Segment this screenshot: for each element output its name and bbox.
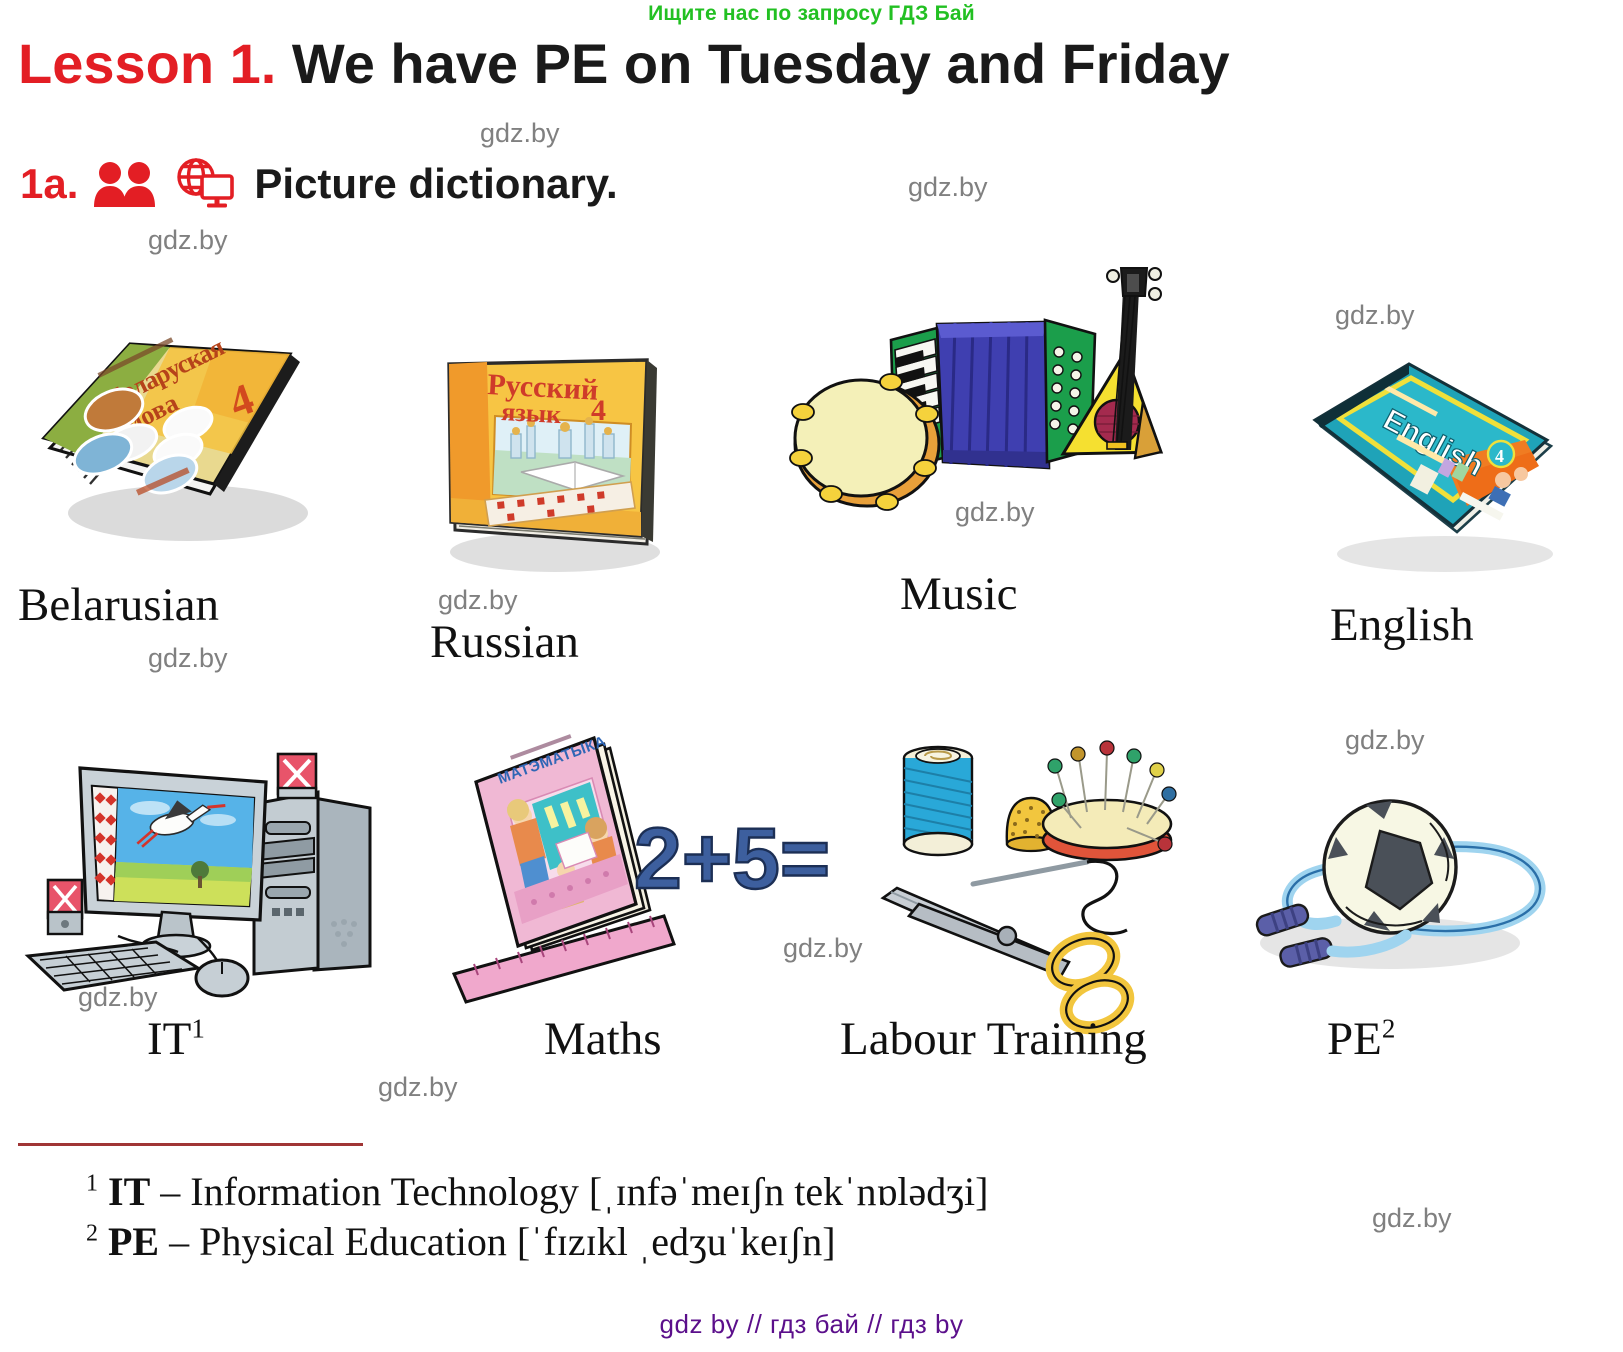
russian-textbook-art: Русский язык 4 — [425, 330, 695, 580]
subject-label-russian: Russian — [430, 615, 579, 669]
subject-label-belarusian: Belarusian — [18, 578, 219, 632]
english-textbook-art: English 4 — [1295, 348, 1575, 578]
subject-label-labour: Labour Training — [840, 1012, 1147, 1066]
belarusian-textbook-art: Беларуская мова . 4 — [18, 258, 318, 558]
subject-card-pe: PE2 — [1240, 775, 1570, 975]
svg-text:4: 4 — [1495, 446, 1504, 466]
site-footer: gdz by // гдз бай // гдз by — [0, 1309, 1623, 1340]
subject-card-belarusian: Беларуская мова . 4 — [18, 258, 318, 558]
footnote-fullform-pe: Physical Education — [199, 1219, 517, 1264]
footnote-abbr-it: IT — [108, 1169, 150, 1214]
footnote-fullform-it: Information Technology — [190, 1169, 589, 1214]
subject-card-labour: Labour Training — [875, 712, 1175, 987]
subject-card-it: IT1 — [22, 712, 382, 1002]
footnote-marker-1: 1 — [86, 1171, 98, 1197]
watermark-2: gdz.by — [148, 225, 228, 256]
lesson-number-label: Lesson 1. — [18, 32, 276, 95]
watermark-6: gdz.by — [148, 643, 228, 674]
musical-instruments-art — [795, 262, 1165, 522]
subject-card-music: Music — [795, 262, 1165, 522]
task-number-label: 1a. — [20, 163, 78, 205]
footnote-divider — [18, 1143, 363, 1146]
watermark-3: gdz.by — [1335, 300, 1415, 331]
subject-card-english: English 4 — [1295, 348, 1575, 578]
watermark-0: gdz.by — [480, 118, 560, 149]
watermark-1: gdz.by — [908, 172, 988, 203]
footnote-it: 1 IT – Information Technology [ˌɪnfəˈmeɪ… — [86, 1168, 988, 1215]
footnote-abbr-pe: PE — [108, 1219, 159, 1264]
task-text-label: Picture dictionary. — [254, 163, 617, 205]
footnote-dash-2: – — [159, 1219, 199, 1264]
footnote-ipa-it: [ˌɪnfəˈmeɪʃn tekˈnɒlədʒi] — [589, 1169, 989, 1214]
maths-book-and-ruler-art: МАТЭМАТЫКА — [448, 712, 828, 987]
subject-label-it: IT1 — [147, 1012, 205, 1066]
subject-label-english: English — [1330, 598, 1474, 652]
pair-of-people-icon — [92, 161, 158, 207]
subject-label-maths: Maths — [544, 1012, 662, 1066]
page-title: Lesson 1. We have PE on Tuesday and Frid… — [18, 34, 1618, 94]
task-heading: 1a. — [20, 158, 618, 210]
subject-label-pe: PE2 — [1327, 1012, 1395, 1066]
subject-card-maths: МАТЭМАТЫКА — [448, 712, 828, 987]
watermark-11: gdz.by — [1372, 1203, 1452, 1234]
svg-text:4: 4 — [591, 394, 606, 427]
svg-text:2+5=: 2+5= — [634, 811, 830, 907]
svg-text:.: . — [48, 257, 49, 259]
footnote-marker-2: 2 — [86, 1221, 98, 1247]
footnote-pe: 2 PE – Physical Education [ˈfɪzɪkl ˌedʒu… — [86, 1218, 836, 1265]
football-and-skipping-rope-art — [1240, 775, 1570, 975]
desktop-computer-art — [22, 712, 382, 1002]
textbook-page: Ищите нас по запросу ГДЗ Бай Lesson 1. W… — [0, 0, 1623, 1352]
subject-card-russian: Русский язык 4 Russian — [425, 330, 695, 580]
watermark-5: gdz.by — [438, 585, 518, 616]
site-banner: Ищите нас по запросу ГДЗ Бай — [0, 2, 1623, 26]
footnote-dash-1: – — [150, 1169, 190, 1214]
globe-computer-icon — [172, 158, 234, 210]
watermark-7: gdz.by — [1345, 725, 1425, 756]
watermark-10: gdz.by — [378, 1072, 458, 1103]
svg-text:язык: язык — [501, 397, 562, 429]
lesson-heading-label: We have PE on Tuesday and Friday — [276, 32, 1229, 95]
sewing-supplies-art — [875, 712, 1175, 987]
footnote-ipa-pe: [ˈfɪzɪkl ˌedʒuˈkeɪʃn] — [517, 1219, 836, 1264]
subject-label-music: Music — [900, 567, 1018, 621]
